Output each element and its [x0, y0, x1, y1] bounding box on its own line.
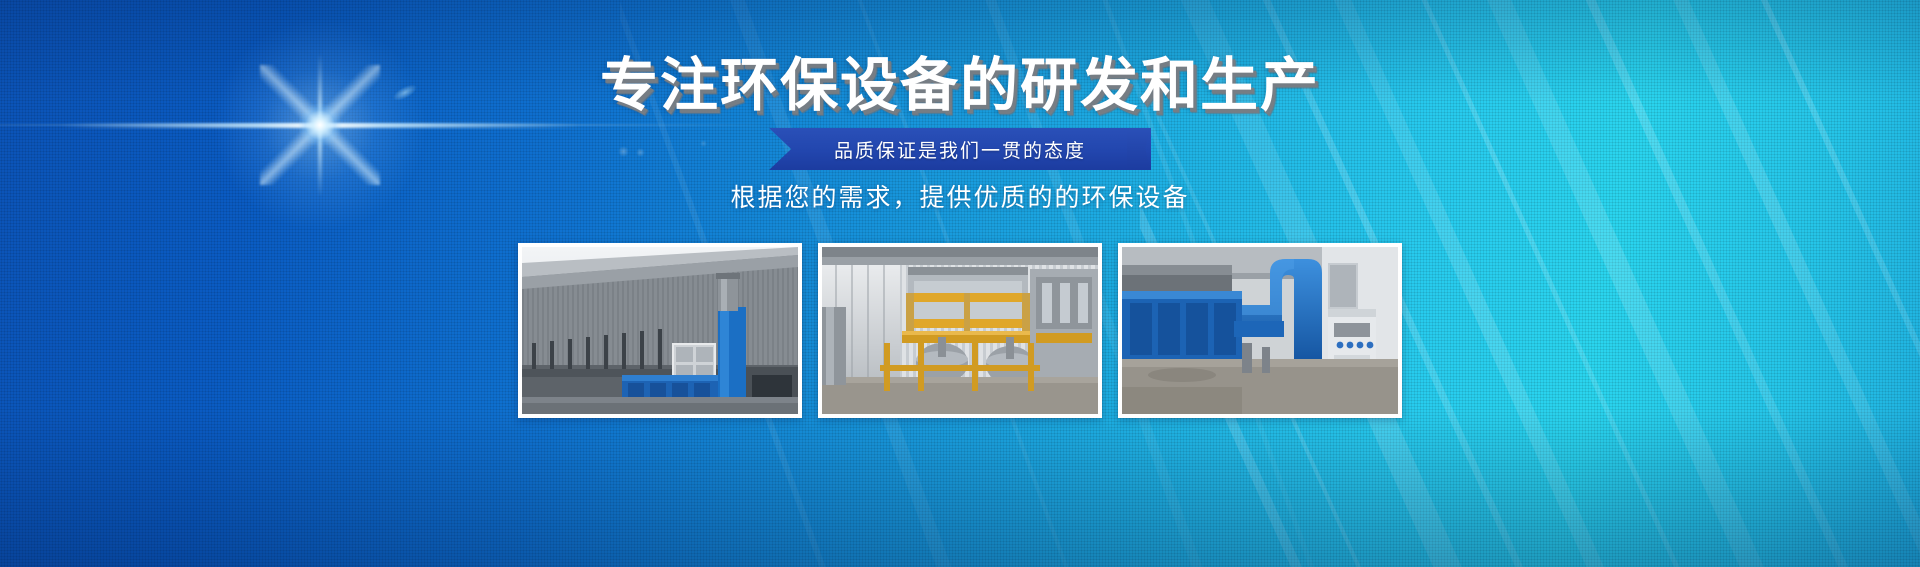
gallery-photo-3[interactable] — [1118, 243, 1402, 418]
gallery-photo-2[interactable] — [818, 243, 1102, 418]
gallery-photo-1[interactable] — [518, 243, 802, 418]
quality-ribbon: 品质保证是我们一贯的态度 — [769, 128, 1151, 170]
hero-banner: 专注环保设备的研发和生产 品质保证是我们一贯的态度 根据您的需求，提供优质的的环… — [0, 0, 1920, 567]
ribbon-label: 品质保证是我们一贯的态度 — [834, 136, 1086, 163]
ribbon-container: 品质保证是我们一贯的态度 — [0, 128, 1920, 170]
product-gallery — [0, 243, 1920, 418]
page-subtitle: 根据您的需求，提供优质的的环保设备 — [0, 178, 1920, 214]
page-title: 专注环保设备的研发和生产 — [0, 56, 1920, 114]
